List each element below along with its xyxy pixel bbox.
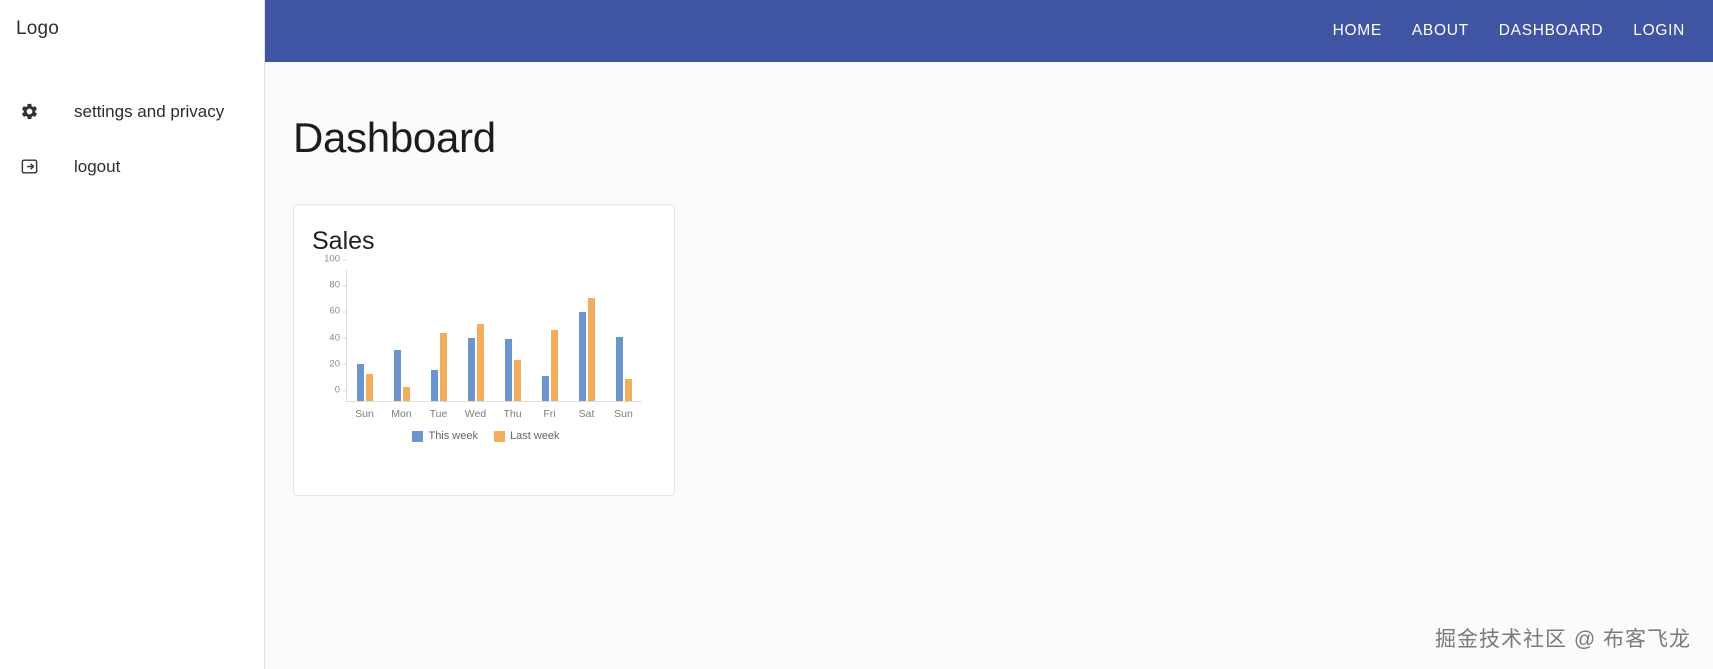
x-axis-tick: Mon bbox=[383, 408, 420, 420]
chart-plot-area: 100806040200 bbox=[346, 270, 642, 402]
legend-swatch bbox=[494, 431, 505, 442]
x-axis-ticks: SunMonTueWedThuFriSatSun bbox=[346, 408, 642, 420]
nav-link-home[interactable]: HOME bbox=[1333, 22, 1382, 40]
bar-group bbox=[347, 270, 384, 401]
gear-icon bbox=[12, 102, 46, 121]
bar-group bbox=[421, 270, 458, 401]
sidebar-item-label: settings and privacy bbox=[46, 102, 224, 122]
bar[interactable] bbox=[403, 387, 410, 401]
x-axis-tick: Fri bbox=[531, 408, 568, 420]
watermark: 掘金技术社区 @ 布客飞龙 bbox=[1435, 623, 1691, 653]
bar[interactable] bbox=[551, 330, 558, 401]
legend-item[interactable]: This week bbox=[412, 430, 478, 442]
nav-link-about[interactable]: ABOUT bbox=[1412, 22, 1469, 40]
x-axis-tick: Sun bbox=[605, 408, 642, 420]
legend-label: Last week bbox=[510, 430, 560, 442]
y-axis-tick: 100 bbox=[324, 254, 347, 265]
bar[interactable] bbox=[579, 312, 586, 401]
legend-label: This week bbox=[428, 430, 478, 442]
bar[interactable] bbox=[431, 370, 438, 401]
bar-group bbox=[531, 270, 568, 401]
chart-legend: This weekLast week bbox=[308, 430, 664, 442]
sidebar: Logo settings and privacy logout bbox=[0, 0, 265, 669]
sales-card: Sales 100806040200 SunMonTueWedThuFriSat… bbox=[293, 204, 675, 496]
logout-icon bbox=[12, 157, 46, 176]
sales-bar-chart: 100806040200 SunMonTueWedThuFriSatSun Th… bbox=[308, 270, 664, 470]
y-axis-tick: 80 bbox=[329, 280, 347, 291]
bar-group bbox=[458, 270, 495, 401]
sidebar-item-label: logout bbox=[46, 157, 120, 177]
main-area: HOME ABOUT DASHBOARD LOGIN Dashboard Sal… bbox=[265, 0, 1713, 669]
bar-group bbox=[495, 270, 532, 401]
sidebar-item-logout[interactable]: logout bbox=[0, 139, 264, 194]
sidebar-nav: settings and privacy logout bbox=[0, 84, 264, 194]
bar[interactable] bbox=[394, 350, 401, 401]
app-root: Logo settings and privacy logout bbox=[0, 0, 1713, 669]
bar[interactable] bbox=[357, 364, 364, 401]
bar[interactable] bbox=[616, 337, 623, 401]
page-title: Dashboard bbox=[293, 114, 1713, 162]
legend-swatch bbox=[412, 431, 423, 442]
bar[interactable] bbox=[468, 338, 475, 401]
bar[interactable] bbox=[366, 374, 373, 402]
bar[interactable] bbox=[588, 298, 595, 401]
bar[interactable] bbox=[514, 360, 521, 401]
bar[interactable] bbox=[542, 376, 549, 401]
y-axis-tick: 0 bbox=[335, 385, 347, 396]
x-axis-tick: Tue bbox=[420, 408, 457, 420]
bar-group bbox=[605, 270, 642, 401]
bar[interactable] bbox=[505, 339, 512, 401]
sidebar-item-settings-and-privacy[interactable]: settings and privacy bbox=[0, 84, 264, 139]
x-axis-tick: Thu bbox=[494, 408, 531, 420]
y-axis-tick: 60 bbox=[329, 306, 347, 317]
x-axis-tick: Sat bbox=[568, 408, 605, 420]
bar[interactable] bbox=[625, 379, 632, 401]
nav-link-dashboard[interactable]: DASHBOARD bbox=[1499, 22, 1603, 40]
card-title: Sales bbox=[294, 205, 674, 256]
top-navbar: HOME ABOUT DASHBOARD LOGIN bbox=[265, 0, 1713, 62]
bar[interactable] bbox=[477, 324, 484, 401]
bar-group bbox=[568, 270, 605, 401]
content-region: Dashboard Sales 100806040200 SunMonTueWe… bbox=[265, 62, 1713, 496]
legend-item[interactable]: Last week bbox=[494, 430, 560, 442]
y-axis-tick: 20 bbox=[329, 358, 347, 369]
sidebar-logo[interactable]: Logo bbox=[0, 0, 264, 62]
x-axis-tick: Sun bbox=[346, 408, 383, 420]
y-axis-tick: 40 bbox=[329, 332, 347, 343]
bar[interactable] bbox=[440, 333, 447, 401]
nav-link-login[interactable]: LOGIN bbox=[1633, 22, 1685, 40]
chart-bars bbox=[347, 270, 642, 401]
x-axis-tick: Wed bbox=[457, 408, 494, 420]
bar-group bbox=[384, 270, 421, 401]
